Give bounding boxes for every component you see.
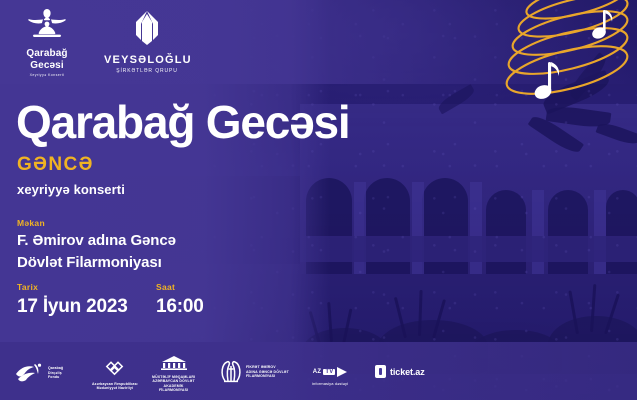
iticket-door-icon (375, 365, 386, 378)
footer-partner-strip: Qarabağ Dirçəliş Fondu Azərbaycan Respub… (0, 346, 637, 400)
time-value: 16:00 (156, 295, 276, 318)
time-label: Saat (156, 282, 276, 292)
partner-mn-line2: Mədəniyyət Nazirliyi (92, 386, 138, 390)
aztv-az-text: AZ (313, 369, 322, 375)
qarabag-gecesi-logo-line2: Gecəsi (16, 61, 78, 71)
poster-city: GƏNCƏ (17, 154, 94, 176)
iticket-label: ticket.az (390, 367, 425, 377)
aztv-caption: informasiya dəstəyi (312, 381, 348, 386)
partner-fil-line3: FİLARMONİYASI (246, 374, 289, 378)
philharmonic-building-icon (159, 356, 189, 370)
date-block: Tarix 17 İyun 2023 (17, 282, 156, 318)
date-label: Tarix (17, 282, 156, 292)
aztv-logo: AZ TV (313, 367, 348, 377)
veyseloglu-logo-sub: ŞİRKƏTLƏR QRUPU (104, 68, 190, 74)
datetime-block: Tarix 17 İyun 2023 Saat 16:00 (17, 282, 276, 318)
lyre-icon (220, 360, 242, 384)
qarabag-gecesi-logo-tagline: Xeyriyyə Konserti (16, 73, 78, 77)
qarabag-gecesi-emblem-icon (24, 8, 70, 42)
media-partner-aztv: AZ TV informasiya dəstəyi (312, 360, 348, 386)
poster-subtitle: xeyriyyə konserti (17, 182, 125, 197)
partner-medeniyyet-nazirliyi: Azərbaycan Respublikası Mədəniyyət Nazir… (92, 360, 138, 391)
dove-emblem-icon (14, 362, 44, 384)
veyseloglu-logo: VEYSƏLOĞLU ŞİRKƏTLƏR QRUPU (104, 8, 190, 74)
event-poster: Qarabağ Gecəsi Xeyriyyə Konserti VEYSƏLO… (0, 0, 637, 400)
eighth-note-icon (533, 62, 559, 101)
partner-qarabag-dircelis-fondu: Qarabağ Dirçəliş Fondu (14, 362, 63, 384)
aztv-tv-text: TV (323, 369, 335, 375)
header-logo-row: Qarabağ Gecəsi Xeyriyyə Konserti VEYSƏLO… (16, 8, 190, 77)
partner-fikret-emirov-filarmoniyasi: FİKRƏT ƏMİROV ADINA GƏNCƏ DÖVLƏT FİLARMO… (220, 360, 289, 384)
date-value: 17 İyun 2023 (17, 295, 156, 318)
partner-qdf-line3: Fondu (48, 375, 63, 379)
ministry-knot-icon (102, 360, 128, 377)
venue-block: Məkan F. Əmirov adına Gəncə Dövlət Filar… (17, 218, 176, 272)
poster-headline: Qarabağ Gecəsi (16, 96, 350, 148)
veyseloglu-diamond-icon (127, 10, 167, 46)
venue-label: Məkan (17, 218, 176, 228)
ticketing-partner-iticket[interactable]: ticket.az (375, 365, 425, 378)
qarabag-gecesi-logo: Qarabağ Gecəsi Xeyriyyə Konserti (16, 8, 78, 77)
play-triangle-icon (337, 367, 347, 377)
partner-adf-line3: FİLARMONİYASI (152, 388, 195, 392)
veyseloglu-logo-name: VEYSƏLOĞLU (104, 54, 190, 66)
time-block: Saat 16:00 (156, 282, 276, 318)
music-staff-swirl-icon (493, 0, 637, 146)
partner-azerbaycan-dovlet-filarmoniyasi: MÜXTƏLİF MƏQAMLARI AZƏRBAYCAN DÖVLƏT AKA… (152, 356, 195, 393)
venue-name-line2: Dövlət Filarmoniyası (17, 253, 176, 272)
venue-name-line1: F. Əmirov adına Gəncə (17, 231, 176, 250)
qarabag-gecesi-logo-line1: Qarabağ (16, 49, 78, 59)
